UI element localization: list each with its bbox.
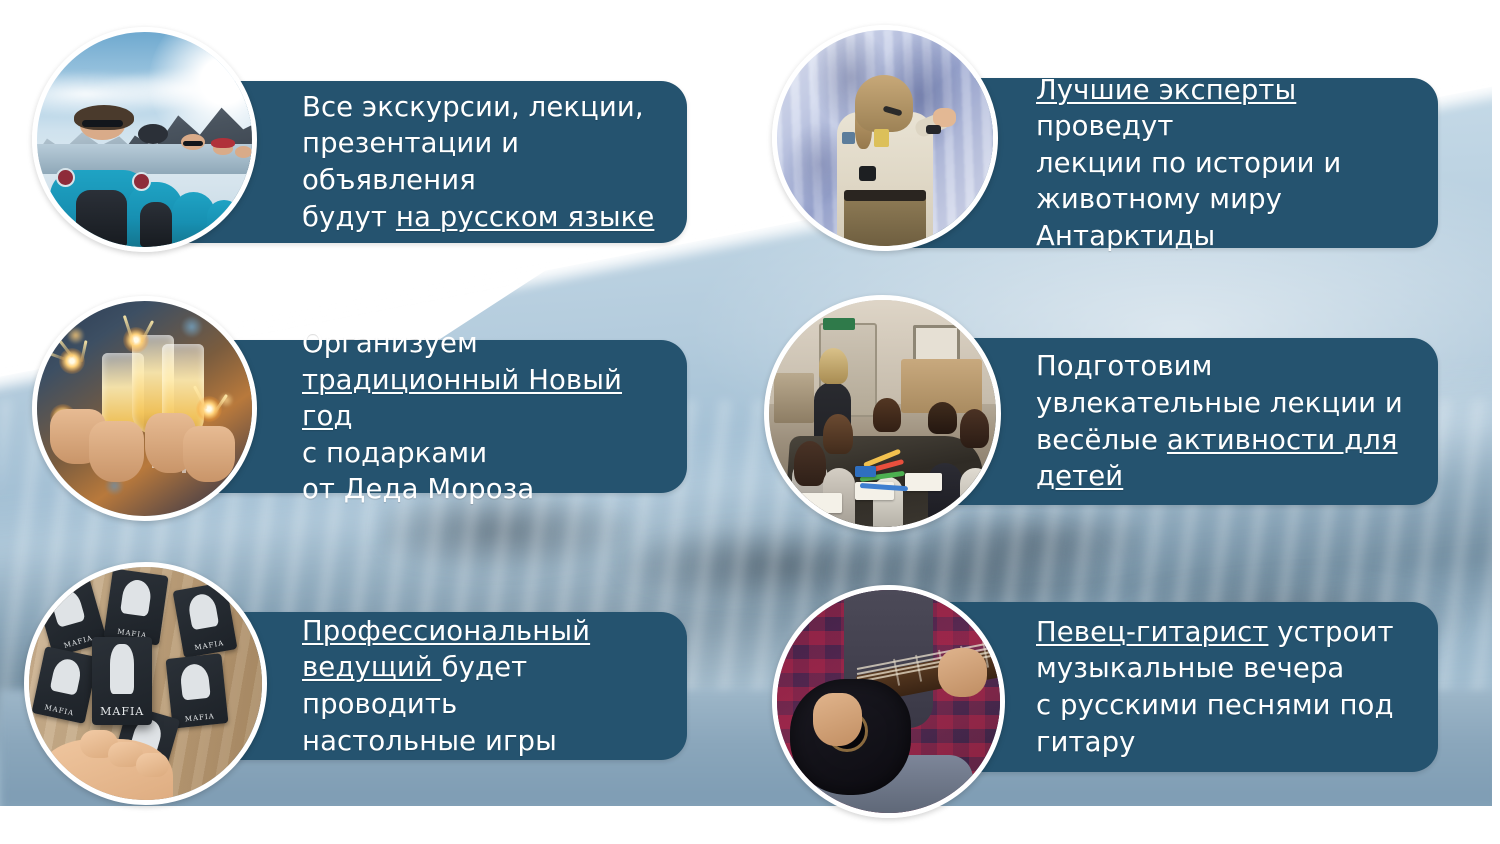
text-run: музыкальные вечера [1036,652,1344,684]
text-run: от Деда Мороза [302,473,534,505]
mafia-card-label: MAFIA [92,705,153,718]
guitarist-singer-photo [772,585,1005,818]
mafia-board-game-cards-photo: MAFIA MAFIA MAFIA MAFIA MAFIA MAFIA [24,562,267,805]
kids-workshop-onboard-photo [764,295,1001,532]
text-run: гитару [1036,726,1136,758]
card-music-evenings-text: Певец-гитарист устроитмузыкальные вечера… [1036,614,1394,760]
text-run: будут [302,201,396,233]
text-run: увлекательные лекции и [1036,387,1403,419]
text-line: весёлые активности для [1036,422,1403,459]
text-run: презентации и объявления [302,127,519,196]
text-line: Певец-гитарист устроит [1036,614,1394,651]
text-line: лекции по истории и [1036,145,1418,182]
text-line: Все экскурсии, лекции, [302,89,665,126]
emphasis-run: на русском языке [396,201,654,233]
text-line: музыкальные вечера [1036,650,1394,687]
text-run: настольные игры [302,725,557,757]
emphasis-run: традиционный Новый год [302,364,622,433]
text-run: устроит [1268,616,1393,648]
background-bottom-margin [0,806,1500,844]
card-board-games-text: Профессиональныйведущий будет проводитьн… [302,613,665,759]
mafia-card-foreground: MAFIA [92,637,153,726]
text-line: ведущий будет проводить [302,649,665,722]
text-line: Профессиональный [302,613,665,650]
emphasis-run: детей [1036,460,1123,492]
antarctic-tourists-zodiac-photo [32,27,257,252]
text-line: будут на русском языке [302,199,665,236]
card-new-year-text: Организуемтрадиционный Новый годс подарк… [302,325,665,508]
text-run: Подготовим [1036,350,1212,382]
slide-canvas: Все экскурсии, лекции,презентации и объя… [0,0,1500,844]
text-run: Все экскурсии, лекции, [302,91,644,123]
text-line: животному миру [1036,181,1418,218]
text-run: Организуем [302,327,478,359]
emphasis-run: активности для [1167,424,1398,456]
text-line: презентации и объявления [302,125,665,198]
card-kids-activities-text: Подготовимувлекательные лекции ивесёлые … [1036,348,1403,494]
text-line: Антарктиды [1036,218,1418,255]
card-russian-language-text: Все экскурсии, лекции,презентации и объя… [302,89,665,235]
emphasis-run: Лучшие эксперты [1036,74,1296,106]
text-run: с подарками [302,437,487,469]
emphasis-run: Профессиональный [302,615,590,647]
background-right-margin [1492,0,1500,844]
female-lecturer-presentation-photo [772,25,998,251]
emphasis-run: ведущий [302,651,442,683]
text-line: Организуем [302,325,665,362]
card-expert-lectures-text: Лучшие эксперты проведутлекции по истори… [1036,72,1418,255]
text-line: от Деда Мороза [302,471,665,508]
text-line: увлекательные лекции и [1036,385,1403,422]
text-line: настольные игры [302,723,665,760]
text-run: Антарктиды [1036,220,1215,252]
text-line: с русскими песнями под [1036,687,1394,724]
text-run: лекции по истории и [1036,147,1341,179]
text-line: детей [1036,458,1403,495]
text-run: с русскими песнями под [1036,689,1394,721]
text-run: проведут [1036,110,1174,142]
text-line: Подготовим [1036,348,1403,385]
text-line: традиционный Новый год [302,362,665,435]
emphasis-run: Певец-гитарист [1036,616,1268,648]
text-line: с подарками [302,435,665,472]
text-run: весёлые [1036,424,1167,456]
text-line: гитару [1036,724,1394,761]
champagne-sparklers-celebration-photo [32,296,257,521]
text-run: животному миру [1036,183,1282,215]
text-line: Лучшие эксперты проведут [1036,72,1418,145]
